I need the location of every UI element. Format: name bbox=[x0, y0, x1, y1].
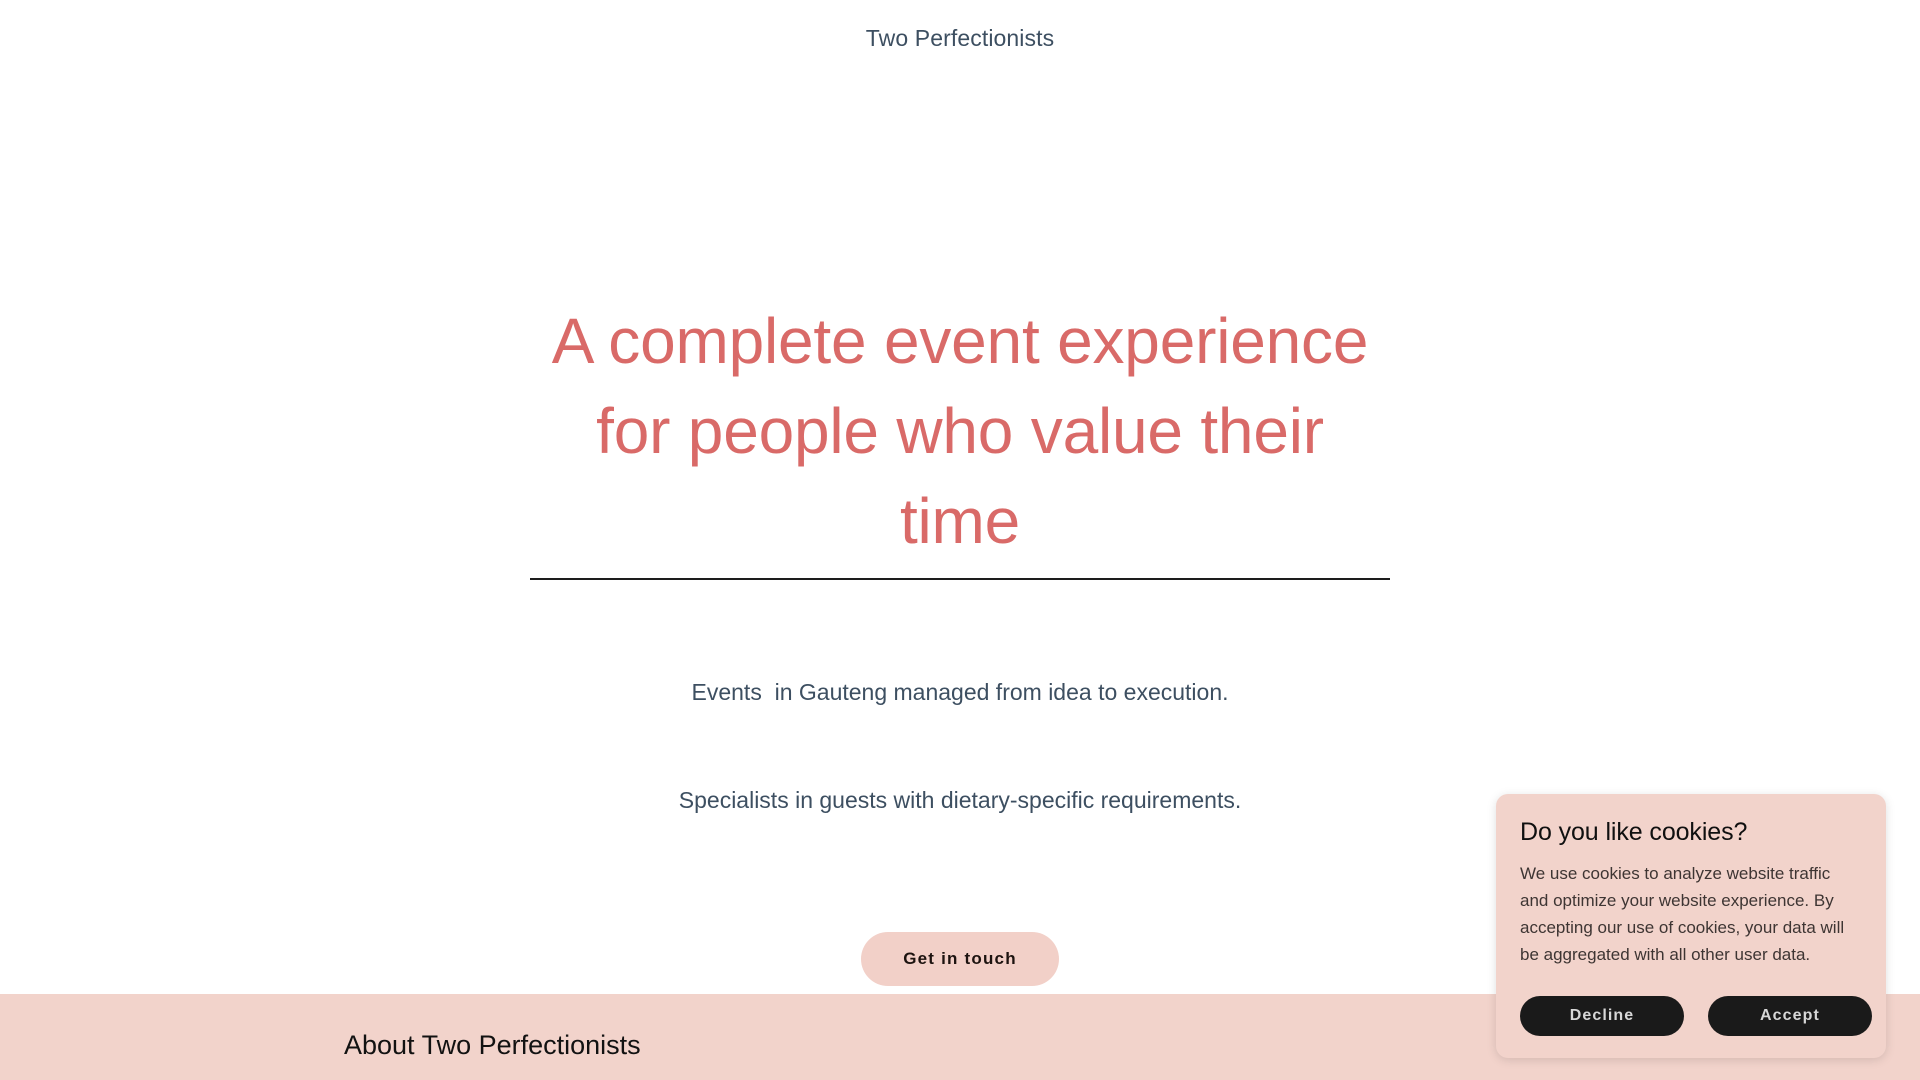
hero-divider bbox=[530, 578, 1390, 580]
brand-title[interactable]: Two Perfectionists bbox=[866, 24, 1054, 52]
hero-cta-wrapper: Get in touch bbox=[520, 932, 1400, 986]
hero-subtitle-line-1: Events in Gauteng managed from idea to e… bbox=[520, 674, 1400, 710]
hero-heading: A complete event experience for people w… bbox=[520, 296, 1400, 566]
about-section-title: About Two Perfectionists bbox=[344, 1028, 641, 1062]
cookie-consent-banner: Do you like cookies? We use cookies to a… bbox=[1496, 794, 1886, 1058]
page-root: Two Perfectionists A complete event expe… bbox=[0, 0, 1920, 1080]
cookie-banner-title: Do you like cookies? bbox=[1520, 816, 1860, 848]
cookie-decline-button[interactable]: Decline bbox=[1520, 996, 1684, 1036]
hero-subtitle: Events in Gauteng managed from idea to e… bbox=[520, 602, 1400, 890]
site-header: Two Perfectionists bbox=[0, 0, 1920, 76]
hero-content: A complete event experience for people w… bbox=[520, 296, 1400, 986]
get-in-touch-button[interactable]: Get in touch bbox=[861, 932, 1059, 986]
cookie-banner-actions: Decline Accept bbox=[1520, 996, 1872, 1036]
cookie-banner-description: We use cookies to analyze website traffi… bbox=[1520, 860, 1860, 968]
cookie-accept-button[interactable]: Accept bbox=[1708, 996, 1872, 1036]
hero-subtitle-line-2: Specialists in guests with dietary-speci… bbox=[520, 782, 1400, 818]
